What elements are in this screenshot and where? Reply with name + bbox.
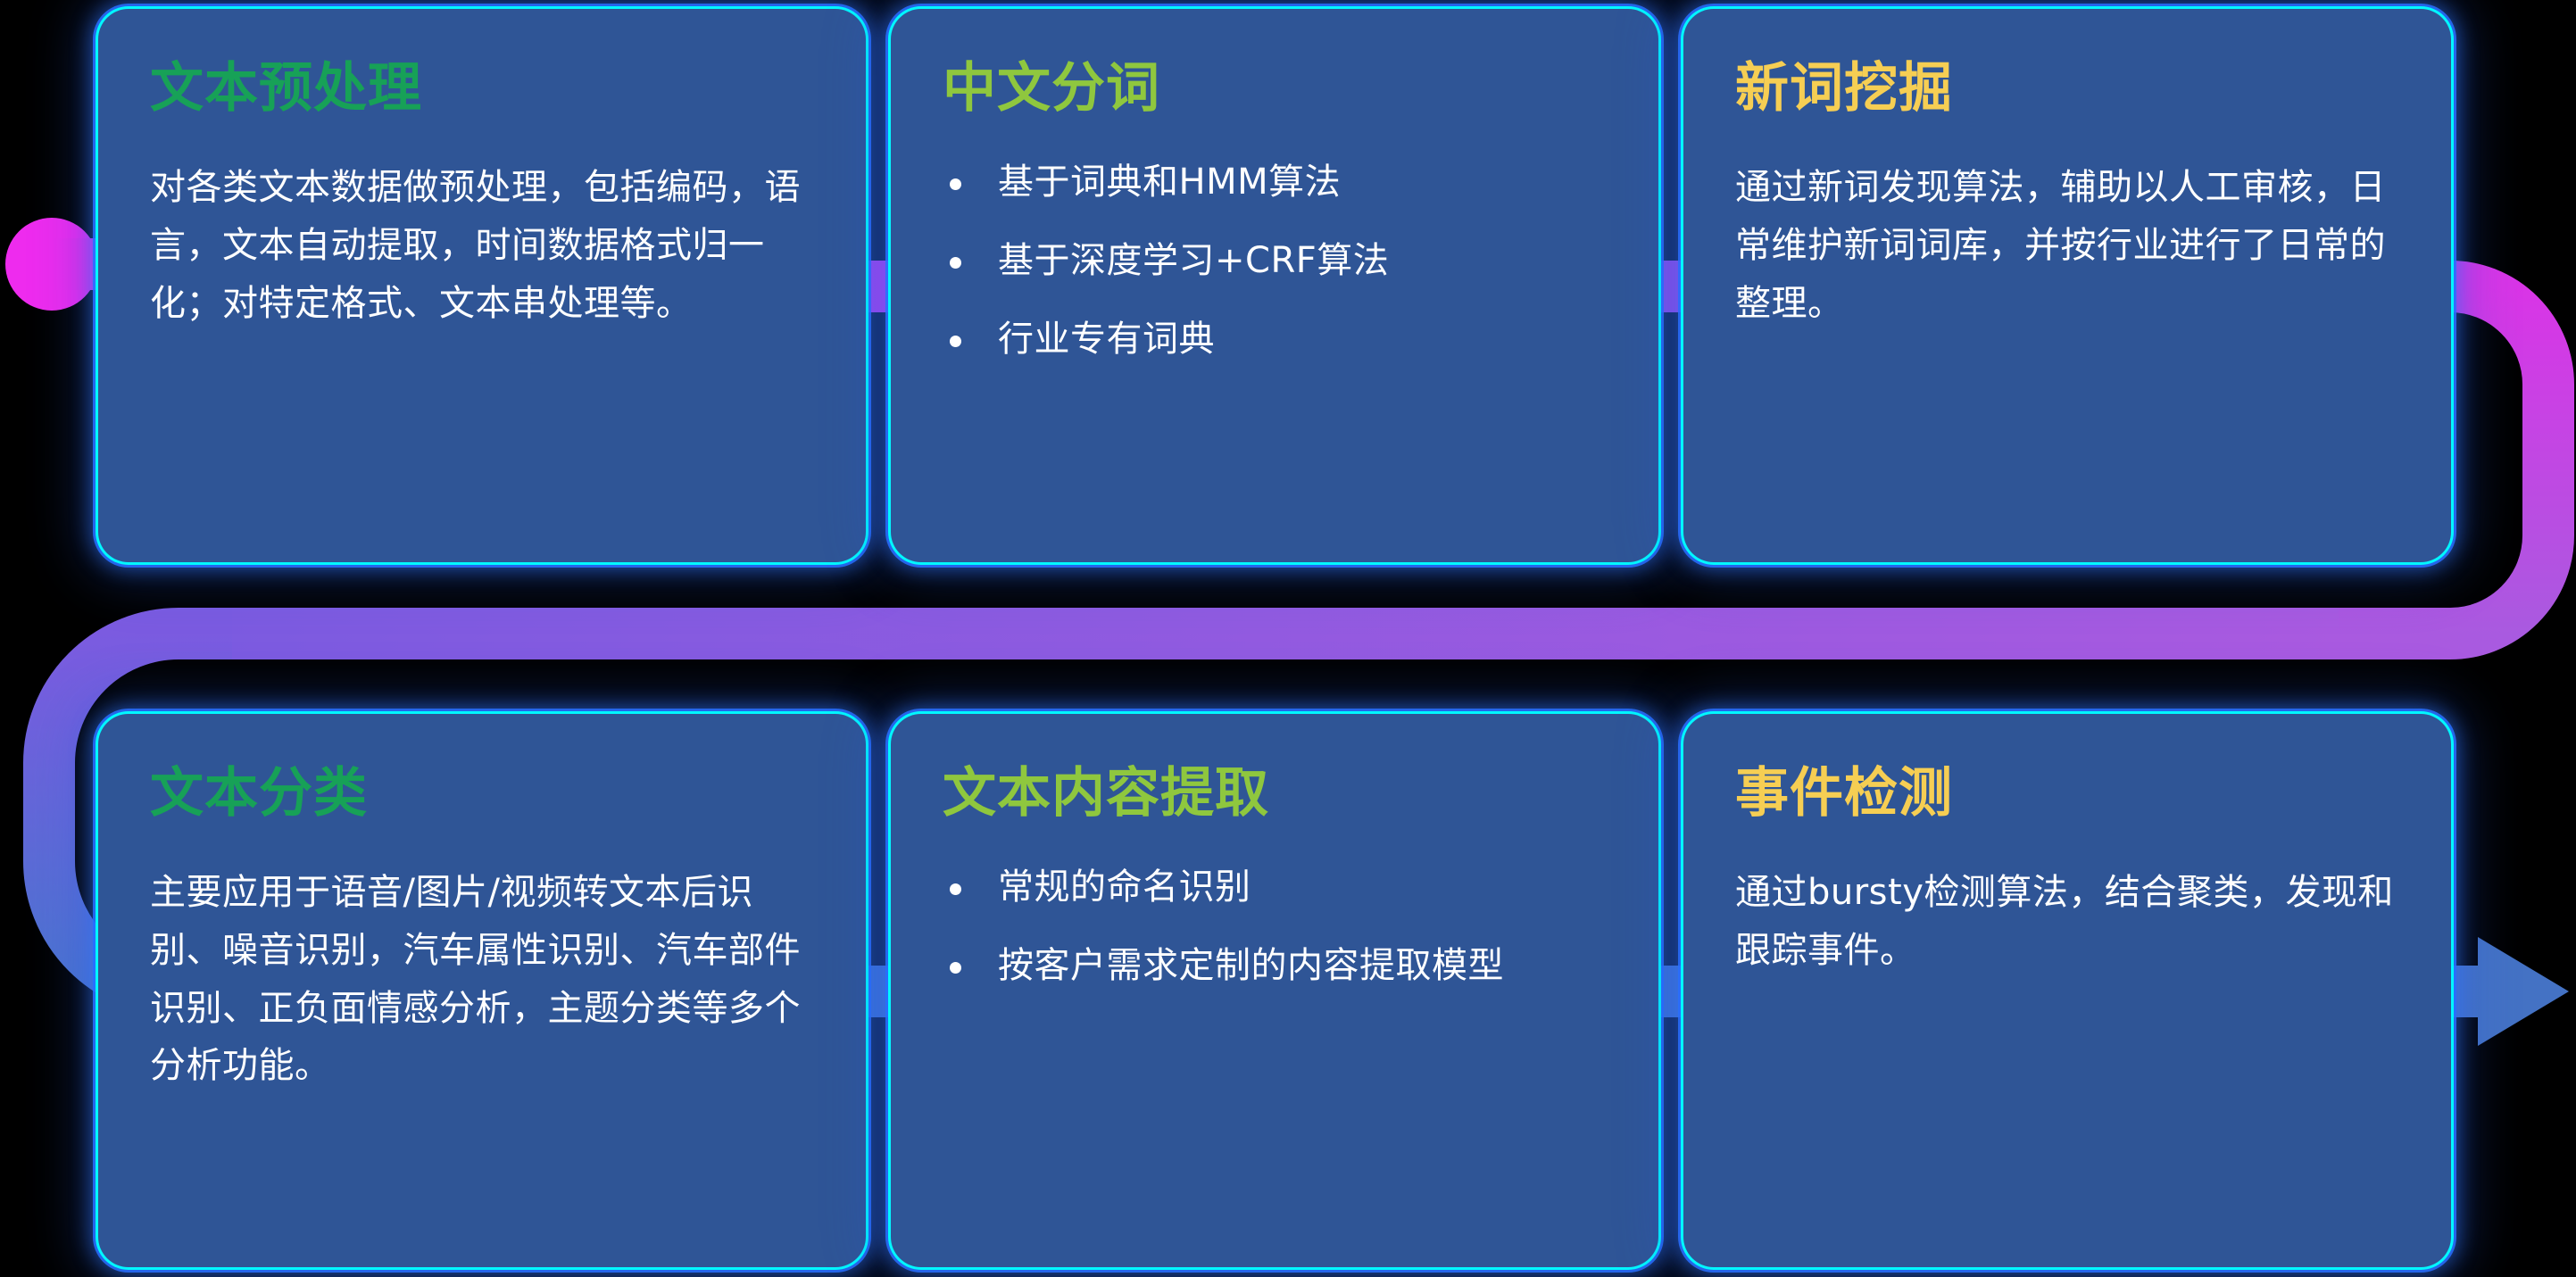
card-bullet-list: 基于词典和HMM算法 基于深度学习+CRF算法 行业专有词典: [943, 159, 1607, 362]
card-text-preprocessing[interactable]: 文本预处理 对各类文本数据做预处理，包括编码，语言，文本自动提取，时间数据格式归…: [98, 9, 866, 562]
card-paragraph: 主要应用于语音/图片/视频转文本后识别、噪音识别，汽车属性识别、汽车部件识别、正…: [150, 864, 814, 1095]
card-body: 通过新词发现算法，辅助以人工审核，日常维护新词词库，并按行业进行了日常的整理。: [1735, 159, 2399, 332]
bullet-dot-icon: [950, 883, 961, 895]
bullet-dot-icon: [950, 336, 961, 347]
card-title: 事件检测: [1735, 764, 2399, 823]
bullet-dot-icon: [950, 178, 961, 190]
card-new-word-mining[interactable]: 新词挖掘 通过新词发现算法，辅助以人工审核，日常维护新词词库，并按行业进行了日常…: [1683, 9, 2451, 562]
card-body: 主要应用于语音/图片/视频转文本后识别、噪音识别，汽车属性识别、汽车部件识别、正…: [150, 864, 814, 1095]
card-title: 文本分类: [150, 764, 814, 823]
list-item-label: 基于深度学习+CRF算法: [998, 240, 1389, 281]
card-body: 对各类文本数据做预处理，包括编码，语言，文本自动提取，时间数据格式归一化；对特定…: [150, 159, 814, 332]
card-text-classification[interactable]: 文本分类 主要应用于语音/图片/视频转文本后识别、噪音识别，汽车属性识别、汽车部…: [98, 714, 866, 1267]
card-event-detection[interactable]: 事件检测 通过bursty检测算法，结合聚类，发现和跟踪事件。: [1683, 714, 2451, 1267]
card-bullet-list: 常规的命名识别 按客户需求定制的内容提取模型: [943, 864, 1607, 989]
card-chinese-word-segmentation[interactable]: 中文分词 基于词典和HMM算法 基于深度学习+CRF算法 行业专有词典: [891, 9, 1658, 562]
card-row-top: 文本预处理 对各类文本数据做预处理，包括编码，语言，文本自动提取，时间数据格式归…: [98, 9, 2451, 562]
list-item-label: 按客户需求定制的内容提取模型: [998, 945, 1504, 986]
connector-mid-bar: [179, 608, 2339, 659]
card-paragraph: 通过bursty检测算法，结合聚类，发现和跟踪事件。: [1735, 864, 2399, 980]
end-arrow: [2478, 937, 2569, 1046]
list-item: 基于词典和HMM算法: [943, 159, 1607, 205]
list-item-label: 基于词典和HMM算法: [998, 162, 1341, 203]
card-title: 文本内容提取: [943, 764, 1607, 823]
card-body: 通过bursty检测算法，结合聚类，发现和跟踪事件。: [1735, 864, 2399, 980]
diagram-canvas: 文本预处理 对各类文本数据做预处理，包括编码，语言，文本自动提取，时间数据格式归…: [0, 0, 2576, 1277]
card-paragraph: 通过新词发现算法，辅助以人工审核，日常维护新词词库，并按行业进行了日常的整理。: [1735, 159, 2399, 332]
card-title: 新词挖掘: [1735, 59, 2399, 118]
list-item-label: 行业专有词典: [998, 319, 1215, 360]
card-text-content-extraction[interactable]: 文本内容提取 常规的命名识别 按客户需求定制的内容提取模型: [891, 714, 1658, 1267]
bullet-dot-icon: [950, 257, 961, 269]
list-item: 按客户需求定制的内容提取模型: [943, 942, 1607, 989]
card-paragraph: 对各类文本数据做预处理，包括编码，语言，文本自动提取，时间数据格式归一化；对特定…: [150, 159, 814, 332]
card-row-bottom: 文本分类 主要应用于语音/图片/视频转文本后识别、噪音识别，汽车属性识别、汽车部…: [98, 714, 2451, 1267]
list-item: 基于深度学习+CRF算法: [943, 237, 1607, 284]
list-item: 行业专有词典: [943, 316, 1607, 362]
list-item-label: 常规的命名识别: [998, 867, 1251, 908]
bullet-dot-icon: [950, 962, 961, 974]
list-item: 常规的命名识别: [943, 864, 1607, 910]
card-title: 中文分词: [943, 59, 1607, 118]
card-title: 文本预处理: [150, 59, 814, 118]
